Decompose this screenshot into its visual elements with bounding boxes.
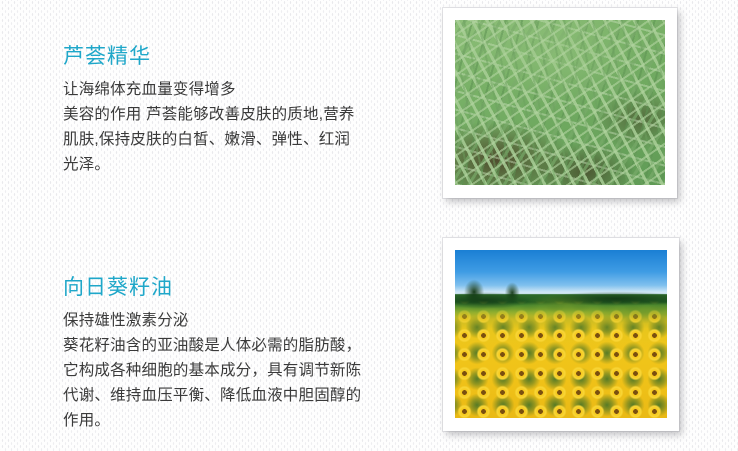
sunflower-field-photo: [455, 250, 667, 418]
section-heading-aloe: 芦荟精华: [63, 44, 423, 70]
sunflower-photo-frame: [443, 238, 679, 431]
body-line: 代谢、维持血压平衡、降低血液中胆固醇的: [63, 383, 423, 408]
section-body-aloe: 让海绵体充血量变得增多 美容的作用 芦荟能够改善皮肤的质地,营养 肌肤,保持皮肤…: [63, 77, 423, 177]
section-aloe-extract-text: 芦荟精华 让海绵体充血量变得增多 美容的作用 芦荟能够改善皮肤的质地,营养 肌肤…: [63, 44, 423, 177]
body-line: 它构成各种细胞的基本成分，具有调节新陈: [63, 358, 423, 383]
body-line: 葵花籽油含的亚油酸是人体必需的脂肪酸，: [63, 333, 423, 358]
section-sunflower-seed-oil-text: 向日葵籽油 保持雄性激素分泌 葵花籽油含的亚油酸是人体必需的脂肪酸， 它构成各种…: [63, 275, 423, 433]
body-line: 作用。: [63, 408, 423, 433]
body-line: 保持雄性激素分泌: [63, 308, 423, 333]
body-line: 光泽。: [63, 152, 423, 177]
body-line: 让海绵体充血量变得增多: [63, 77, 423, 102]
section-heading-sunflower: 向日葵籽油: [63, 275, 423, 301]
body-line: 美容的作用 芦荟能够改善皮肤的质地,营养: [63, 102, 423, 127]
body-line: 肌肤,保持皮肤的白皙、嫩滑、弹性、红润: [63, 127, 423, 152]
product-ingredient-infographic: 芦荟精华 让海绵体充血量变得增多 美容的作用 芦荟能够改善皮肤的质地,营养 肌肤…: [0, 0, 738, 451]
aloe-photo-frame: [443, 8, 677, 198]
section-body-sunflower: 保持雄性激素分泌 葵花籽油含的亚油酸是人体必需的脂肪酸， 它构成各种细胞的基本成…: [63, 308, 423, 433]
aloe-vera-field-photo: [455, 20, 665, 185]
